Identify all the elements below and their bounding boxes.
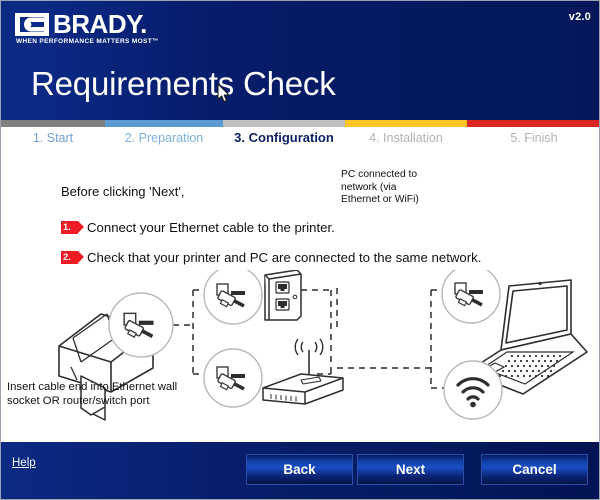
brady-logo-mark-icon [15,13,49,36]
wifi-dot-icon [470,402,476,408]
wizard-step-start[interactable]: 1. Start [1,127,105,149]
ethernet-wall-socket-illustration [265,270,301,320]
intro-text: Before clicking 'Next', [61,184,184,199]
help-link[interactable]: Help [12,457,36,469]
window-footer: Help Back Next Cancel [1,442,600,500]
window-header: BRADY. WHEN PERFORMANCE MATTERS MOST™ v2… [1,1,600,120]
ethernet-plug-callout-printer [109,293,173,357]
back-button[interactable]: Back [246,454,353,485]
instruction-item-2: 2. Check that your printer and PC are co… [61,250,481,265]
wizard-step-list: 1. Start 2. Preparation 3. Configuration… [1,127,600,149]
instruction-number-badge-2: 2. [61,251,78,264]
progress-segment-1 [1,120,105,127]
progress-segment-4 [345,120,467,127]
instruction-text-2: Check that your printer and PC are conne… [87,250,481,265]
progress-segment-2 [105,120,223,127]
instruction-number-badge-1: 1. [61,221,78,234]
brady-logo-glyph-icon [19,16,45,33]
version-label: v2.0 [569,11,591,23]
wifi-signal-callout [444,361,502,419]
progress-segment-5 [467,120,600,127]
page-title: Requirements Check [31,65,336,103]
network-diagram-svg [1,270,600,442]
network-diagram [1,270,600,442]
wizard-step-configuration[interactable]: 3. Configuration [223,127,345,149]
instruction-item-1: 1. Connect your Ethernet cable to the pr… [61,220,335,235]
wizard-step-finish[interactable]: 5. Finish [467,127,600,149]
ethernet-plug-callout-laptop [442,270,500,323]
brady-wordmark: BRADY. [53,12,147,37]
instruction-text-1: Connect your Ethernet cable to the print… [87,220,335,235]
brady-tagline: WHEN PERFORMANCE MATTERS MOST™ [16,38,159,45]
wizard-step-preparation[interactable]: 2. Preparation [105,127,223,149]
progress-segment-3 [223,120,345,127]
wizard-step-installation[interactable]: 4. Installation [345,127,467,149]
ethernet-plug-callout-router [204,349,262,407]
diagram-caption: Insert cable end into Ethernet wall sock… [7,381,197,408]
installer-window: BRADY. WHEN PERFORMANCE MATTERS MOST™ v2… [0,0,600,500]
next-button[interactable]: Next [357,454,464,485]
cancel-button[interactable]: Cancel [481,454,588,485]
brady-logo: BRADY. WHEN PERFORMANCE MATTERS MOST™ [15,13,145,47]
wizard-progress-bar [1,120,600,127]
ethernet-plug-callout-wallsocket [204,270,262,324]
main-content: Before clicking 'Next', 1. Connect your … [1,150,600,442]
pc-connection-note: PC connected to network (via Ethernet or… [341,169,427,207]
